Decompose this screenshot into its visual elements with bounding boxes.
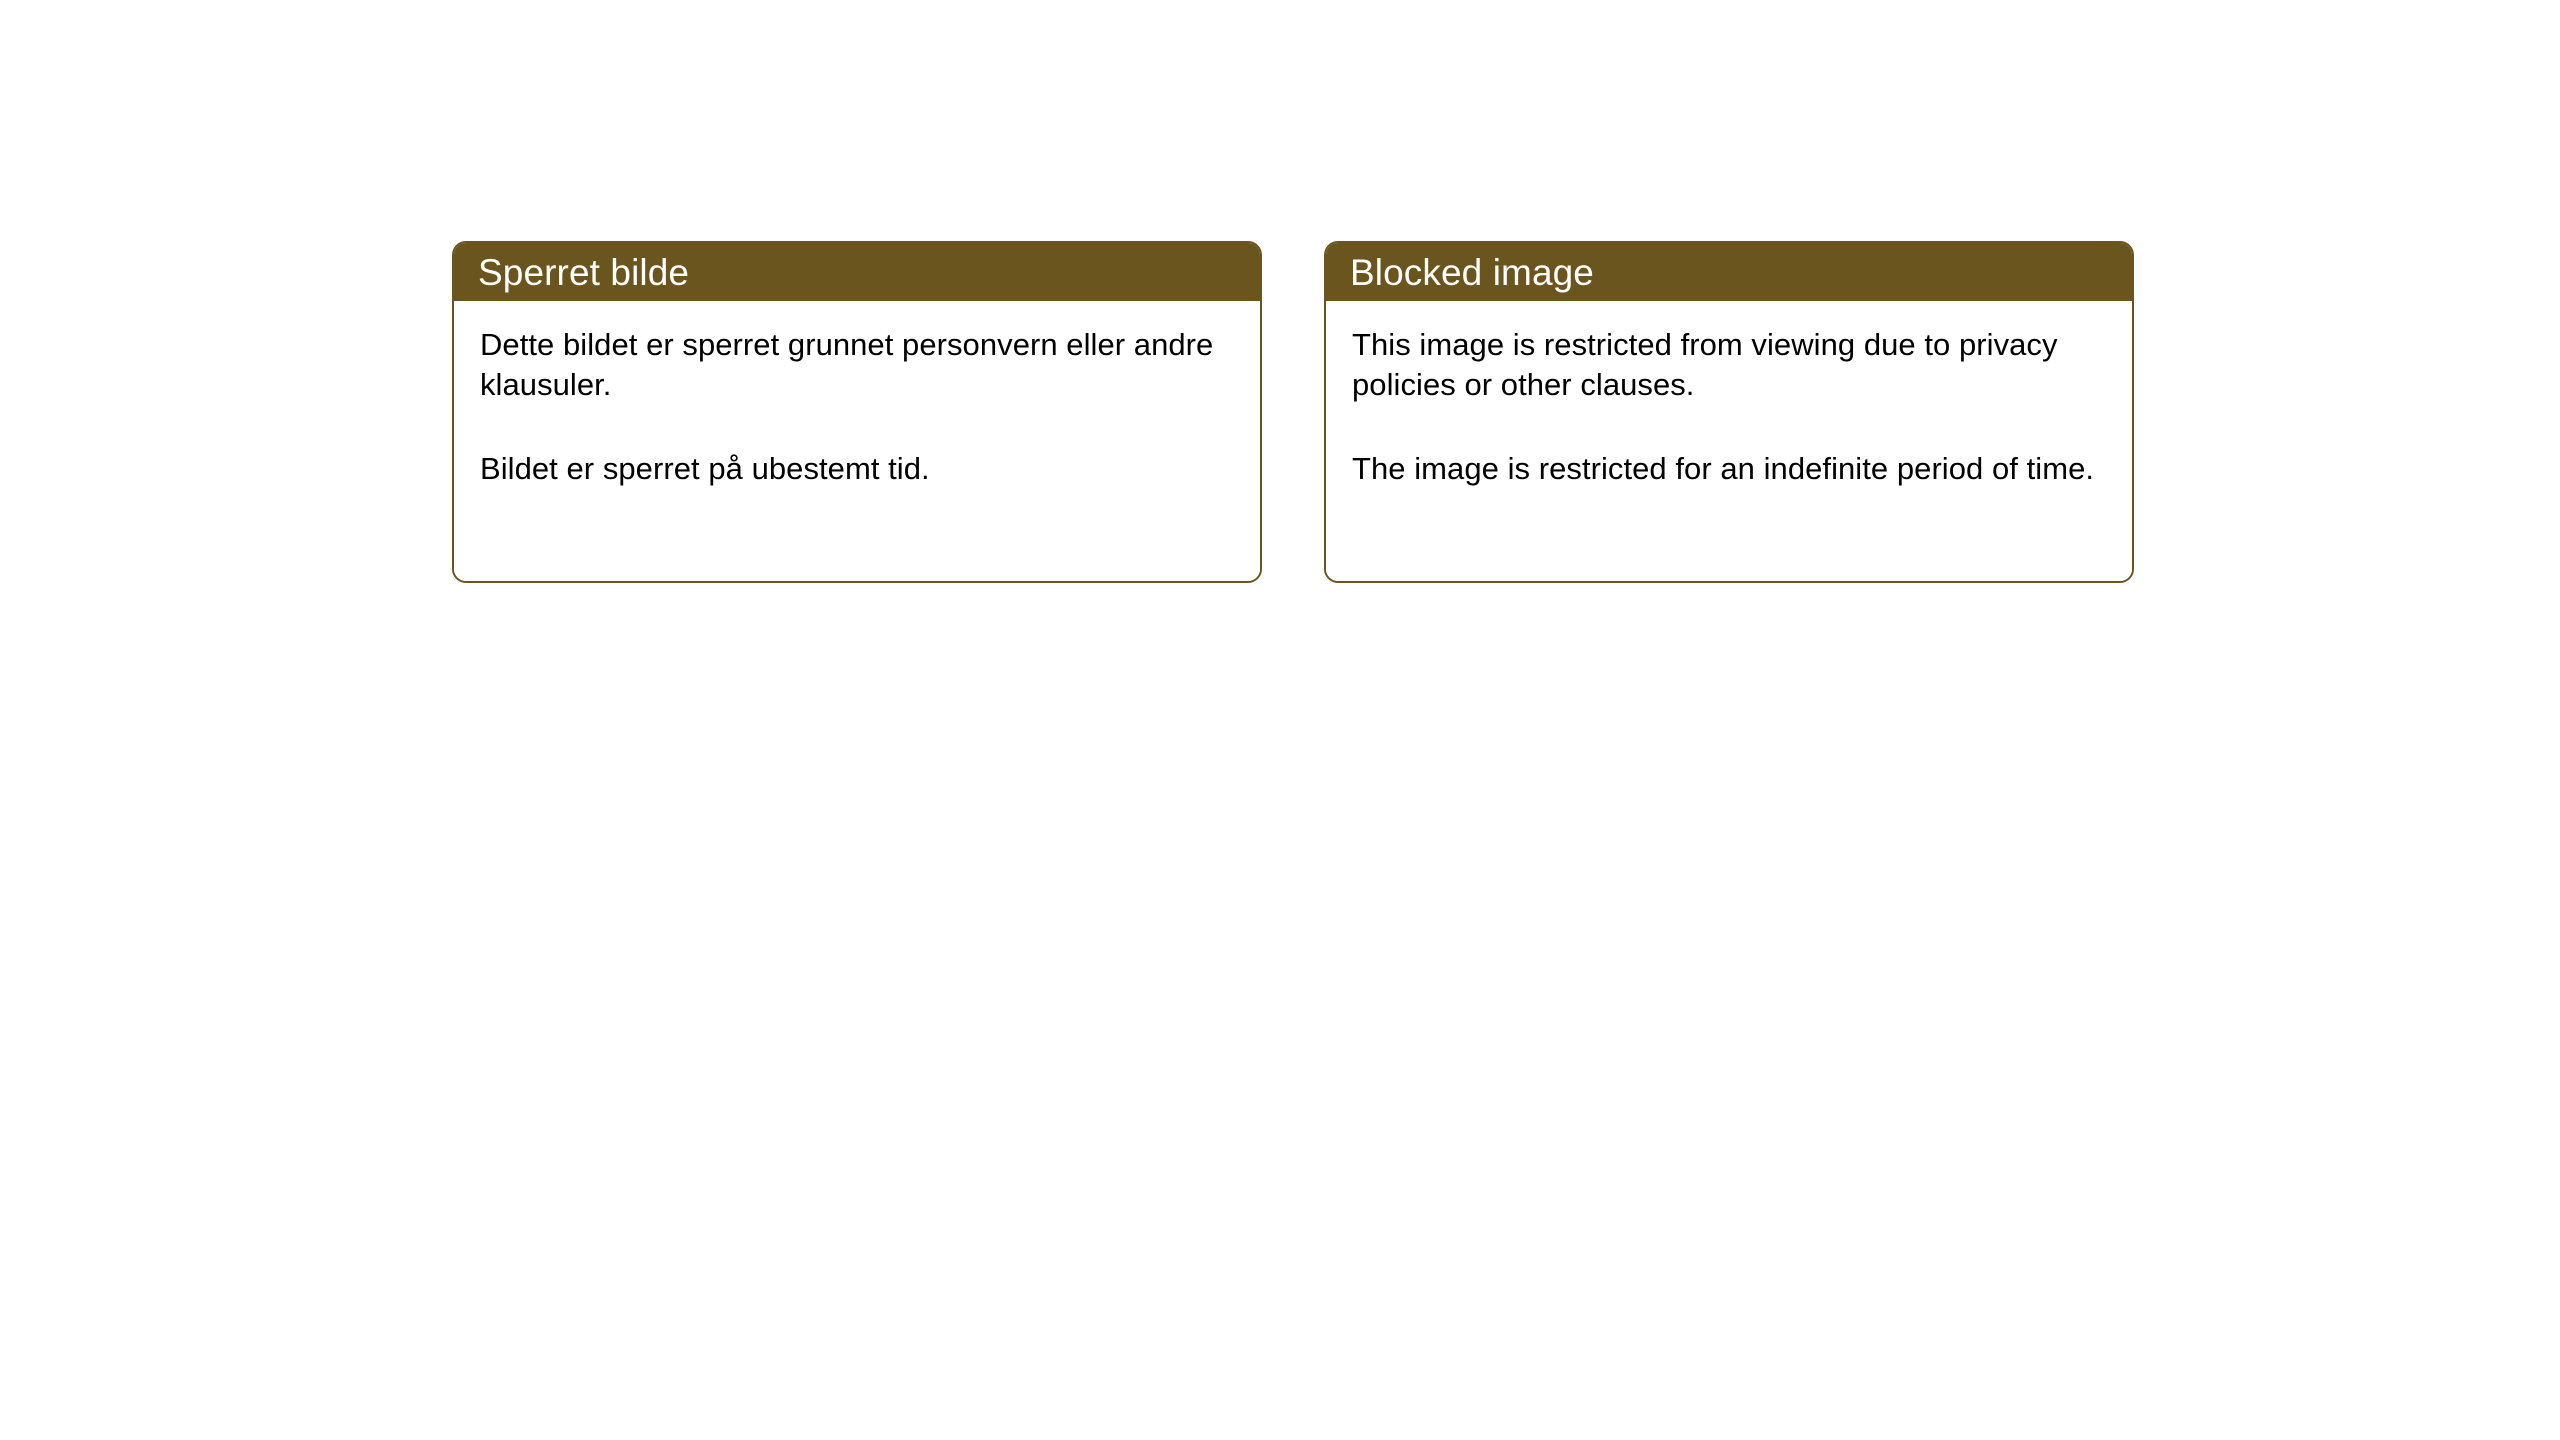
panel-paragraph-secondary-norwegian: Bildet er sperret på ubestemt tid.	[480, 449, 1234, 489]
panel-header-english: Blocked image	[1326, 243, 2132, 301]
panel-body-english: This image is restricted from viewing du…	[1326, 301, 2132, 581]
panel-title-english: Blocked image	[1350, 254, 1594, 291]
panel-header-norwegian: Sperret bilde	[454, 243, 1260, 301]
panel-title-norwegian: Sperret bilde	[478, 254, 689, 291]
blocked-image-panel-norwegian: Sperret bilde Dette bildet er sperret gr…	[452, 241, 1262, 583]
panel-paragraph-primary-norwegian: Dette bildet er sperret grunnet personve…	[480, 325, 1234, 406]
blocked-image-notice-group: Sperret bilde Dette bildet er sperret gr…	[452, 241, 2134, 583]
panel-paragraph-primary-english: This image is restricted from viewing du…	[1352, 325, 2106, 406]
blocked-image-panel-english: Blocked image This image is restricted f…	[1324, 241, 2134, 583]
panel-body-norwegian: Dette bildet er sperret grunnet personve…	[454, 301, 1260, 581]
panel-paragraph-secondary-english: The image is restricted for an indefinit…	[1352, 449, 2106, 489]
